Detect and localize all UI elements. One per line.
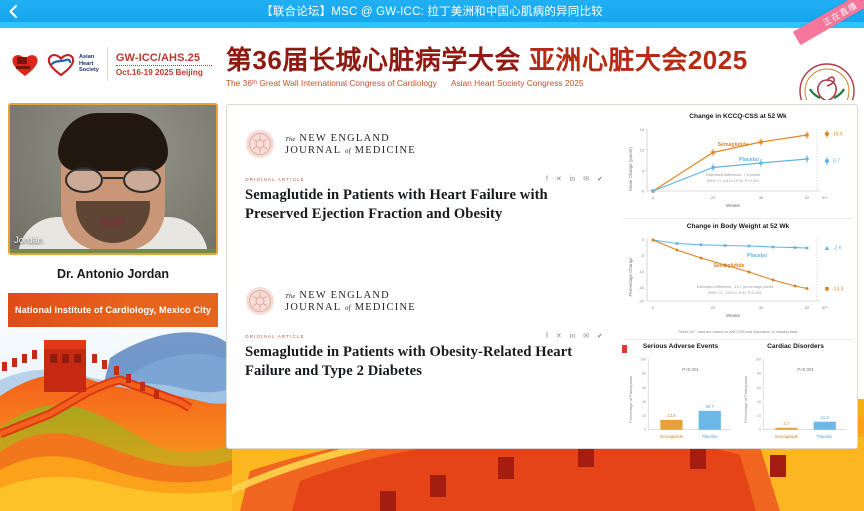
speaker-hair [58, 113, 168, 171]
figure-1-series-label-semaglutide: Semaglutide [718, 142, 749, 148]
figure-1-xlabel: Weeks [726, 203, 741, 208]
nejm-seal-icon [245, 286, 275, 316]
figure-1-xtick-0: 0 [652, 195, 655, 200]
nejm-of-1: of [345, 147, 351, 155]
figure-1-annotation-line1: Estimated difference, 7.8 points [706, 172, 760, 177]
figure-4-ytick-40: 40 [757, 400, 761, 404]
congress-title-cn-sub: 亚洲心脏大会2025 [529, 40, 748, 77]
kccq-line-chart: Mean Change (points) 18 12 6 0 [625, 121, 853, 209]
figure-1-plot: Mean Change (points) 18 12 6 0 [625, 121, 851, 214]
figure-2-xtick-36: 36 [759, 305, 764, 310]
figure-3-category-semaglutide: Semaglutide [660, 434, 684, 439]
figure-2-ytick-n10: -10 [638, 269, 645, 274]
figure-1-ytick-6: 6 [642, 168, 645, 173]
speaker-glasses-icon [65, 167, 161, 193]
figure-4-bar-placebo [814, 422, 836, 430]
figure-footnote: "Week 52": data are based on ANCOVA and … [625, 328, 851, 335]
figure-4-value-placebo: 11.3 [821, 415, 830, 420]
asian-heart-society-logo: Asian Heart Society [46, 51, 99, 77]
figure-3-ytick-100: 100 [640, 358, 646, 362]
figure-2-ytick-n20: -20 [638, 299, 645, 304]
speaker-video-tile[interactable]: Jordán [8, 103, 218, 255]
speaker-name: Dr. Antonio Jordan [8, 267, 218, 281]
figure-4-category-placebo: Placebo [817, 434, 833, 439]
figure-3-ytick-80: 80 [642, 372, 646, 376]
congress-title-chinese-row: 第36届长城心脏病学大会 亚洲心脏大会2025 [226, 40, 748, 77]
figure-2-endpoint-semaglutide: -13.3 [832, 287, 844, 293]
share-icon-group-1: f ✕ in ✉ ✔ [546, 175, 603, 183]
figure-3-ylabel: Percentage of Participants [628, 376, 633, 423]
header-divider [107, 47, 108, 81]
video-bottom-accent [10, 249, 216, 253]
ahs-line-3: Society [79, 67, 99, 73]
figure-3-category-placebo: Placebo [702, 434, 718, 439]
figure-3-title: Serious Adverse Events [624, 343, 737, 350]
gwicc-heart-logo-icon [10, 51, 40, 77]
figure-1-xtick-20: 20 [711, 195, 716, 200]
video-name-overlay: Jordán [14, 235, 43, 246]
article-title-2: Semaglutide in Patients with Obesity-Rel… [245, 343, 609, 381]
figure-1-xtick-52star: 52* [822, 195, 828, 200]
figure-1-annotation-line2: (95% CI, 4.8 to 10.9); P<0.001 [707, 178, 760, 183]
nejm-masthead: The NEW ENGLAND JOURNAL of MEDICINE [245, 129, 609, 159]
x-twitter-icon[interactable]: ✕ [556, 175, 562, 183]
figure-3-value-placebo: 26.7 [705, 404, 714, 409]
bookmark-icon[interactable]: ✔ [597, 175, 603, 183]
nejm-masthead-2: The NEW ENGLAND JOURNAL of MEDICINE [245, 286, 609, 316]
slide-figure-column: Change in KCCQ-CSS at 52 Wk Mean Change … [621, 105, 857, 448]
ahs-logo-text: Asian Heart Society [79, 54, 99, 73]
share-icon-group-2: f ✕ in ✉ ✔ [546, 332, 603, 340]
figure-bar-row: Serious Adverse Events Percentage of Par… [623, 340, 853, 449]
congress-title-english-row: The 36ᵗʰ Great Wall International Congre… [226, 78, 748, 88]
figure-4-bar-semaglutide [775, 428, 797, 430]
figure-3-ytick-0: 0 [644, 428, 646, 432]
article-meta-row-1: ORIGINAL ARTICLE f ✕ in ✉ ✔ [245, 175, 609, 183]
figure-3-pvalue: P<0.001 [682, 367, 699, 372]
figure-2-annotation-line1: Estimated difference, -10.7 percentage p… [697, 285, 774, 289]
figure-4-ytick-20: 20 [757, 414, 761, 418]
nejm-seal-icon [245, 129, 275, 159]
figure-4-title: Cardiac Disorders [739, 343, 852, 350]
figure-3-ytick-60: 60 [642, 386, 646, 390]
nejm-the-1: The [285, 136, 296, 143]
figure-2-xtick-20: 20 [711, 305, 716, 310]
email-icon[interactable]: ✉ [583, 175, 589, 183]
nejm-journal-1: JOURNAL [285, 145, 341, 156]
nejm-new-england-2: NEW ENGLAND [299, 290, 390, 301]
conference-header: Asian Heart Society GW-ICC/AHS.25 Oct.16… [0, 28, 864, 100]
figure-2-ytick-n15: -15 [638, 285, 645, 290]
facebook-icon[interactable]: f [546, 176, 548, 183]
figure-3-bar-placebo [699, 411, 721, 430]
figure-2-xtick-0: 0 [652, 305, 655, 310]
congress-title-cn-main: 第36届长城心脏病学大会 [226, 40, 521, 77]
figure-1-endpoint-semaglutide: 16.6 [833, 132, 843, 138]
figure-2-xtick-52star: 52* [822, 305, 828, 310]
figure-body-weight: Change in Body Weight at 52 Wk Percentag… [623, 219, 853, 340]
facebook-icon[interactable]: f [546, 333, 548, 340]
nejm-medicine-1: MEDICINE [355, 145, 416, 156]
nejm-medicine-2: MEDICINE [355, 302, 416, 313]
figure-1-ytick-0: 0 [642, 189, 645, 194]
x-twitter-icon[interactable]: ✕ [556, 332, 562, 340]
figure-2-endpoint-placebo: -2.6 [833, 246, 842, 252]
congress-titles: 第36届长城心脏病学大会 亚洲心脏大会2025 The 36ᵗʰ Great W… [226, 40, 748, 88]
linkedin-icon[interactable]: in [570, 333, 575, 340]
session-title: 【联合论坛】MSC @ GW-ICC: 拉丁美洲和中国心肌病的异同比较 [0, 3, 864, 19]
nejm-wordmark: The NEW ENGLAND JOURNAL of MEDICINE [285, 133, 416, 156]
nejm-article-1: The NEW ENGLAND JOURNAL of MEDICINE ORIG… [245, 129, 609, 224]
figure-2-series-label-semaglutide: Semaglutide [714, 263, 745, 269]
figure-1-ylabel: Mean Change (points) [628, 147, 633, 191]
article-kicker-2: ORIGINAL ARTICLE [245, 334, 305, 339]
nejm-journal-2: JOURNAL [285, 302, 341, 313]
presentation-slide[interactable]: The NEW ENGLAND JOURNAL of MEDICINE ORIG… [226, 104, 858, 449]
figure-1-xtick-36: 36 [759, 195, 764, 200]
top-navigation-bar: 【联合论坛】MSC @ GW-ICC: 拉丁美洲和中国心肌病的异同比较 [0, 0, 864, 22]
speaker-affiliation-banner: National Institute of Cardiology, Mexico… [8, 293, 218, 327]
figure-4-value-semaglutide: 2.7 [783, 421, 790, 426]
nejm-the-2: The [285, 293, 296, 300]
nejm-new-england-1: NEW ENGLAND [299, 133, 390, 144]
slide-article-column: The NEW ENGLAND JOURNAL of MEDICINE ORIG… [227, 105, 623, 448]
figure-2-title: Change in Body Weight at 52 Wk [625, 223, 851, 230]
nejm-wordmark-2: The NEW ENGLAND JOURNAL of MEDICINE [285, 290, 416, 313]
figure-1-ytick-18: 18 [640, 127, 645, 132]
article-meta-row-2: ORIGINAL ARTICLE f ✕ in ✉ ✔ [245, 332, 609, 340]
figure-4-ytick-60: 60 [757, 386, 761, 390]
figure-4-pvalue: P<0.001 [797, 367, 814, 372]
congress-dotted-rule [116, 65, 212, 67]
serious-adverse-events-bar-chart: Percentage of Participants 100 80 60 40 … [624, 351, 737, 444]
figure-2-series-label-placebo: Placebo [747, 253, 767, 259]
article-title-1: Semaglutide in Patients with Heart Failu… [245, 186, 609, 224]
figure-2-plot: Percentage Change 0 -5 -10 -15 -20 0 [625, 231, 851, 328]
congress-code-block: GW-ICC/AHS.25 Oct.16-19 2025 Beijing [116, 52, 212, 77]
figure-4-category-semaglutide: Semaglutide [775, 434, 799, 439]
figure-1-ytick-12: 12 [640, 148, 645, 153]
figure-4-ytick-80: 80 [757, 372, 761, 376]
figure-2-ytick-0: 0 [642, 237, 645, 242]
figure-2-annotation-line2: (95% CI, -11.9 to -9.4); P<0.001 [708, 291, 762, 295]
figure-kccq-css: Change in KCCQ-CSS at 52 Wk Mean Change … [623, 109, 853, 219]
figure-serious-adverse-events: Serious Adverse Events Percentage of Par… [623, 340, 738, 449]
article-kicker-1: ORIGINAL ARTICLE [245, 177, 305, 182]
figure-4-ytick-100: 100 [755, 358, 761, 362]
congress-dates: Oct.16-19 2025 Beijing [116, 68, 212, 77]
speaker-panel: Jordán Dr. Antonio Jordan National Insti… [8, 103, 218, 327]
livestream-page: 【联合论坛】MSC @ GW-ICC: 拉丁美洲和中国心肌病的异同比较 正在直播… [0, 0, 864, 511]
figure-3-bar-semaglutide [660, 420, 682, 430]
nejm-article-2: The NEW ENGLAND JOURNAL of MEDICINE ORIG… [245, 286, 609, 381]
figure-1-series-label-placebo: Placebo [739, 157, 759, 163]
figure-3-ytick-40: 40 [642, 400, 646, 404]
figure-2-xtick-52: 52 [805, 305, 810, 310]
figure-1-xtick-52: 52 [805, 195, 810, 200]
figure-3-ytick-20: 20 [642, 414, 646, 418]
linkedin-icon[interactable]: in [570, 176, 575, 183]
email-icon[interactable]: ✉ [583, 332, 589, 340]
figure-2-ytick-n5: -5 [640, 253, 644, 258]
figure-cardiac-disorders: Cardiac Disorders Percentage of Particip… [738, 340, 853, 449]
ahs-heart-icon [46, 51, 76, 77]
figure-2-ylabel: Percentage Change [628, 257, 633, 297]
figure-1-endpoint-placebo: 8.7 [833, 159, 840, 165]
figure-4-ylabel: Percentage of Participants [743, 376, 748, 423]
nejm-of-2: of [345, 304, 351, 312]
cardiac-disorders-bar-chart: Percentage of Participants 100 80 60 40 … [739, 351, 852, 444]
congress-title-en-main: The 36ᵗʰ Great Wall International Congre… [226, 78, 437, 88]
bookmark-icon[interactable]: ✔ [597, 332, 603, 340]
figure-4-ytick-0: 0 [759, 428, 761, 432]
body-weight-line-chart: Percentage Change 0 -5 -10 -15 -20 0 [625, 231, 853, 323]
congress-title-en-sub: Asian Heart Society Congress 2025 [451, 78, 584, 88]
figure-3-value-semaglutide: 13.8 [667, 413, 676, 418]
congress-code: GW-ICC/AHS.25 [116, 52, 212, 64]
figure-1-title: Change in KCCQ-CSS at 52 Wk [625, 113, 851, 120]
figure-2-xlabel: Weeks [726, 313, 741, 318]
